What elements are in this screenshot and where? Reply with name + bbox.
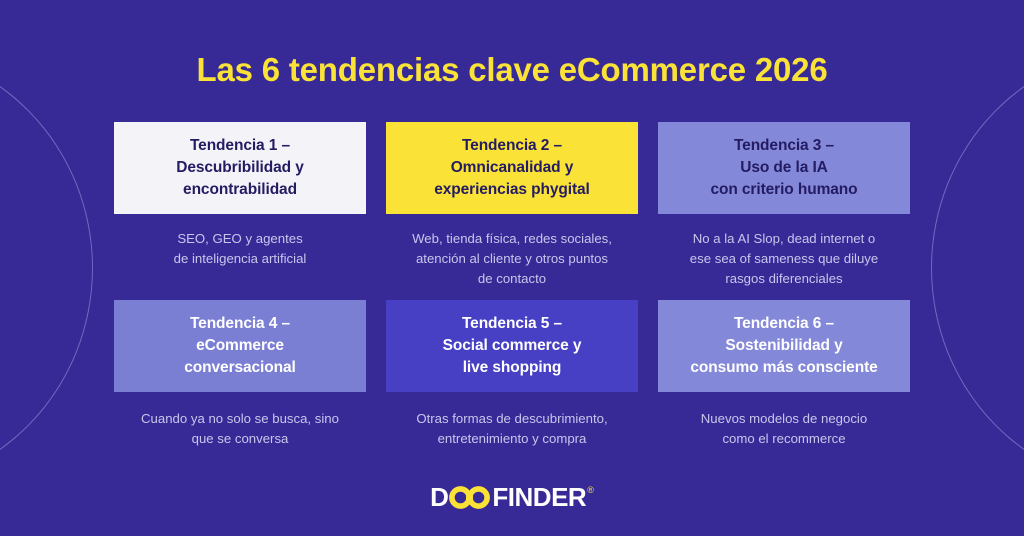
decorative-arc-left [0, 47, 93, 489]
trend-card-3-box: Tendencia 3 – Uso de la IA con criterio … [658, 122, 910, 214]
trend-card-2-caption: Web, tienda física, redes sociales, aten… [386, 229, 638, 289]
trend-card-1-caption: SEO, GEO y agentes de inteligencia artif… [114, 229, 366, 269]
trend-card-1-title: Tendencia 1 – Descubribilidad y encontra… [176, 135, 304, 201]
trend-card-6-title: Tendencia 6 – Sostenibilidad y consumo m… [690, 313, 877, 379]
infographic-canvas: Las 6 tendencias clave eCommerce 2026 Te… [0, 0, 1024, 536]
trend-card-6-box: Tendencia 6 – Sostenibilidad y consumo m… [658, 300, 910, 392]
trend-card-5-box: Tendencia 5 – Social commerce y live sho… [386, 300, 638, 392]
brand-logo-trademark: ® [587, 486, 594, 495]
trend-card-6: Tendencia 6 – Sostenibilidad y consumo m… [658, 300, 910, 449]
trends-grid: Tendencia 1 – Descubribilidad y encontra… [114, 122, 910, 449]
decorative-arc-right [931, 47, 1024, 489]
trend-card-2-box: Tendencia 2 – Omnicanalidad y experienci… [386, 122, 638, 214]
trend-card-3-caption: No a la AI Slop, dead internet o ese sea… [658, 229, 910, 289]
page-title: Las 6 tendencias clave eCommerce 2026 [0, 51, 1024, 89]
brand-logo-inner: D FINDER ® [430, 484, 594, 510]
trend-card-1-box: Tendencia 1 – Descubribilidad y encontra… [114, 122, 366, 214]
trend-card-5-title: Tendencia 5 – Social commerce y live sho… [443, 313, 582, 379]
trend-card-2: Tendencia 2 – Omnicanalidad y experienci… [386, 122, 638, 289]
trend-card-4-caption: Cuando ya no solo se busca, sino que se … [114, 409, 366, 449]
trend-card-4: Tendencia 4 – eCommerce conversacional C… [114, 300, 366, 449]
brand-logo-d: D [430, 484, 448, 510]
trend-card-3-title: Tendencia 3 – Uso de la IA con criterio … [710, 135, 857, 201]
trend-card-5-caption: Otras formas de descubrimiento, entreten… [386, 409, 638, 449]
trend-card-6-caption: Nuevos modelos de negocio como el recomm… [658, 409, 910, 449]
trend-card-1: Tendencia 1 – Descubribilidad y encontra… [114, 122, 366, 289]
trend-card-2-title: Tendencia 2 – Omnicanalidad y experienci… [434, 135, 590, 201]
double-o-infinity-icon [449, 485, 491, 510]
brand-logo-finder: FINDER [492, 484, 586, 510]
trend-card-3: Tendencia 3 – Uso de la IA con criterio … [658, 122, 910, 289]
trend-card-4-title: Tendencia 4 – eCommerce conversacional [184, 313, 295, 379]
brand-logo: D FINDER ® [0, 484, 1024, 510]
trend-card-5: Tendencia 5 – Social commerce y live sho… [386, 300, 638, 449]
trend-card-4-box: Tendencia 4 – eCommerce conversacional [114, 300, 366, 392]
